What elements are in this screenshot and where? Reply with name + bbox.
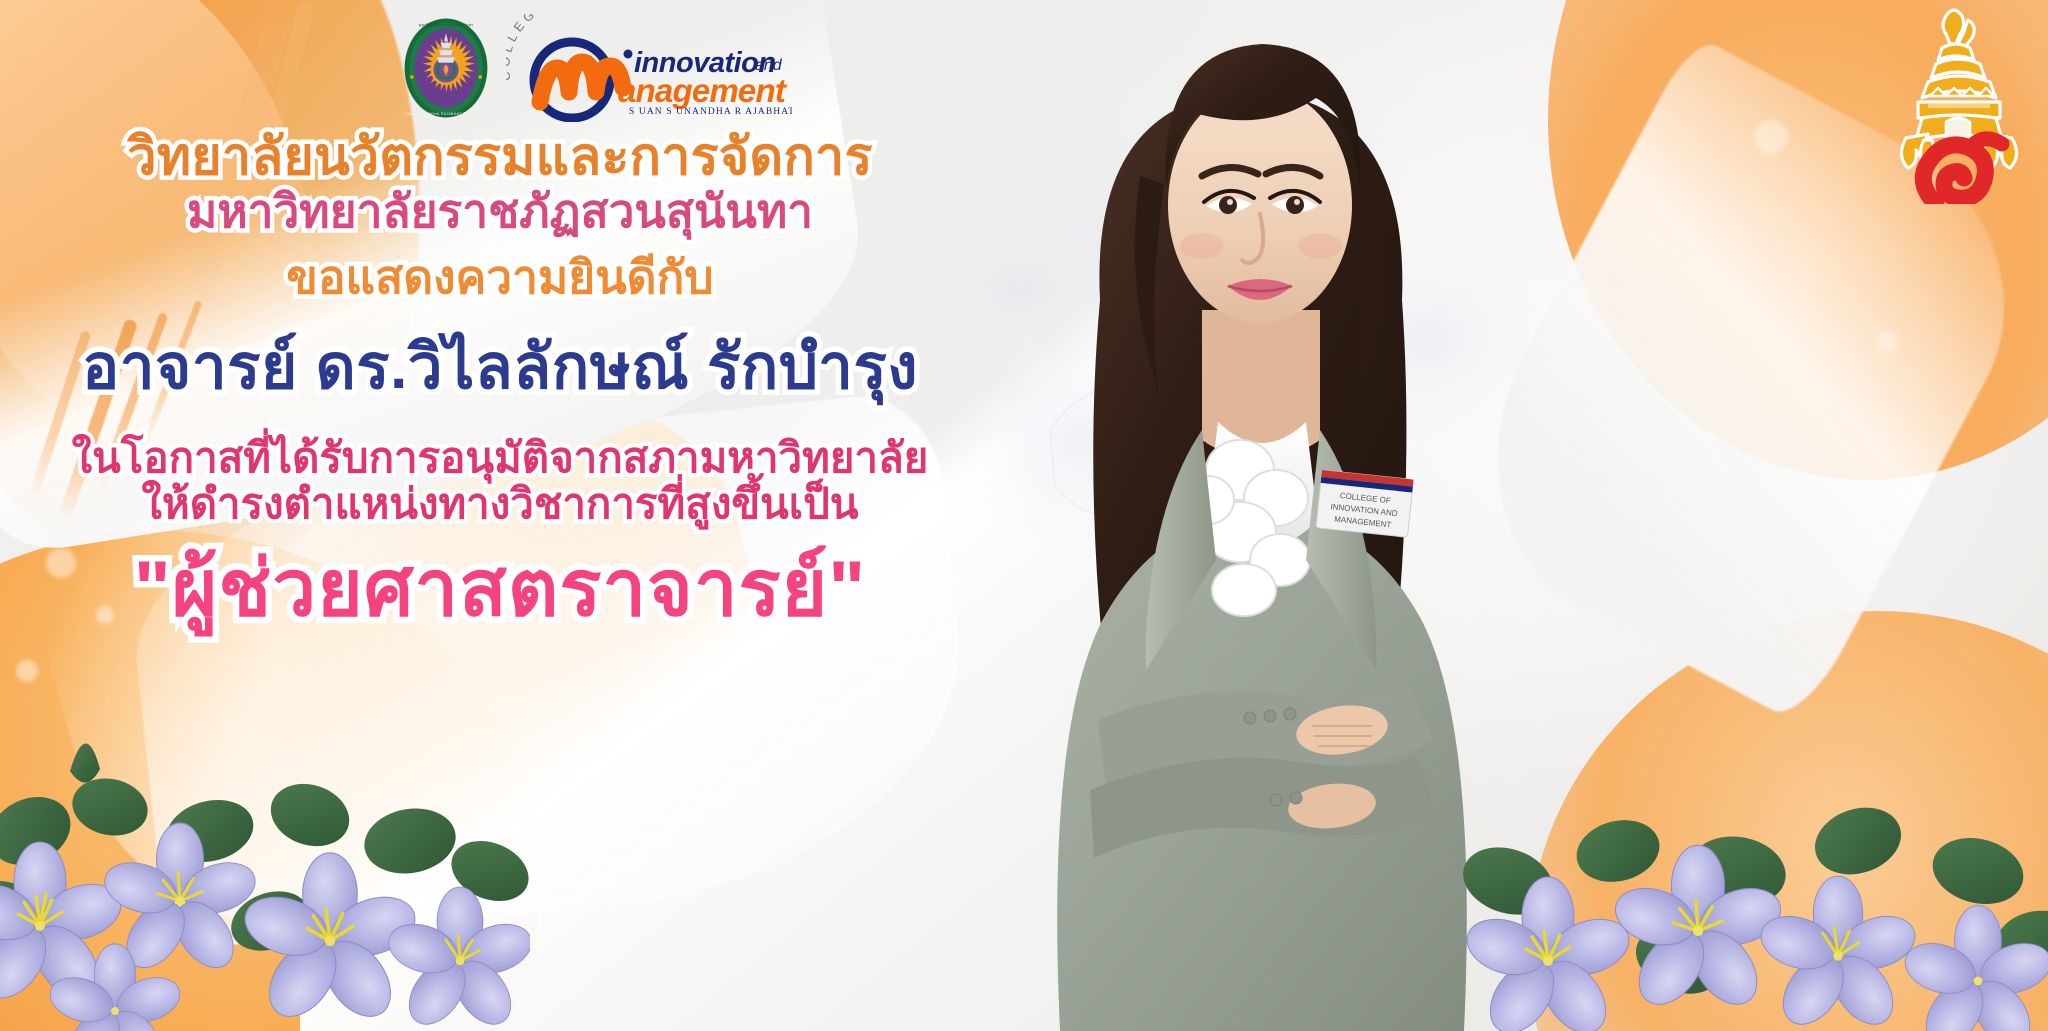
congratulation-text-block: วิทยาลัยนวัตกรรมและการจัดการ มหาวิทยาลัย… — [0, 130, 1000, 629]
bokeh-dot — [1876, 330, 1898, 352]
logo-row: มหาวิทยาลัยราชภัฏสวนสุนันทา SUAN SUNANDH… — [392, 10, 792, 125]
suan-sunandha-seal-icon: มหาวิทยาลัยราชภัฏสวนสุนันทา SUAN SUNANDH… — [392, 14, 500, 122]
body-line-2: ให้ดำรงตำแหน่งทางวิชาการที่สูงขึ้นเป็น — [0, 482, 1000, 526]
flower-cluster-left — [0, 711, 530, 1031]
bokeh-dot — [1754, 120, 1788, 154]
bokeh-dot — [16, 660, 38, 682]
svg-text:S UAN S UNANDHA R AJABHAT U: S UAN S UNANDHA R AJABHAT U NIVERSITY — [629, 107, 792, 117]
flower-cluster-right — [1438, 731, 2048, 1031]
congratulations-banner: มหาวิทยาลัยราชภัฏสวนสุนันทา SUAN SUNANDH… — [0, 0, 2048, 1031]
university-line: มหาวิทยาลัยราชภัฏสวนสุนันทา — [0, 188, 1000, 236]
organization-line: วิทยาลัยนวัตกรรมและการจัดการ — [0, 130, 1000, 184]
svg-text:anagement: anagement — [618, 72, 788, 109]
svg-text:SUAN SUNANDHA RAJABHAT UNIVERS: SUAN SUNANDHA RAJABHAT UNIVERSITY — [405, 111, 487, 115]
award-title: "ผู้ช่วยศาสตราจารย์" — [0, 548, 1000, 629]
royal-thai-crown-emblem — [1884, 4, 2034, 204]
college-of-innovation-management-logo: COLLEGE OF innovation and anagement S UA… — [506, 14, 792, 122]
honoree-name: อาจารย์ ดร.วิไลลักษณ์ รักบำรุง — [0, 336, 1000, 400]
body-line-1: ในโอกาสที่ได้รับการอนุมัติจากสภามหาวิทยา… — [0, 436, 1000, 480]
congratulation-intro: ขอแสดงความยินดีกับ — [0, 254, 1000, 302]
